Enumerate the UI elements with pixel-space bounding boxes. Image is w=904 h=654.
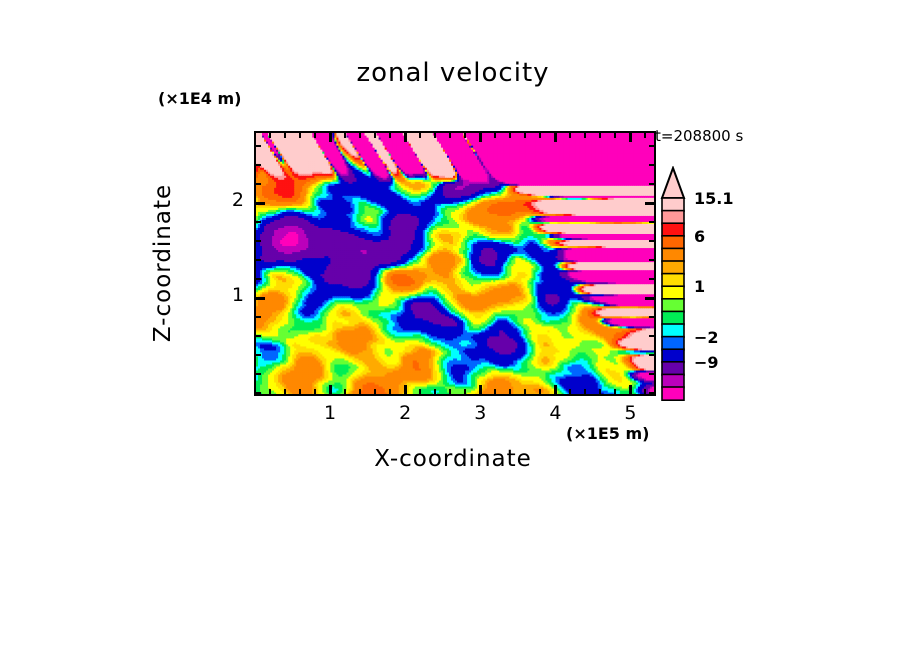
axis-tick: [419, 389, 421, 394]
axis-tick: [449, 133, 451, 138]
axis-tick: [329, 133, 332, 142]
axis-tick: [256, 392, 261, 394]
colorbar-band: [662, 274, 684, 287]
colorbar: [660, 166, 686, 406]
axis-tick: [404, 133, 407, 142]
axis-tick: [344, 389, 346, 394]
axis-tick: [645, 202, 654, 205]
axis-tick: [539, 133, 541, 138]
axis-tick: [299, 133, 301, 138]
axis-tick: [269, 133, 271, 138]
axis-tick: [629, 385, 632, 394]
axis-tick: [649, 392, 654, 394]
axis-tick: [509, 133, 511, 138]
axis-tick: [569, 389, 571, 394]
colorbar-band: [662, 311, 684, 324]
axis-tick: [256, 373, 261, 375]
axis-tick: [329, 385, 332, 394]
y-tick-label: 1: [214, 284, 244, 306]
contour-plot-area: [254, 131, 656, 396]
colorbar-band: [662, 286, 684, 299]
axis-tick: [449, 389, 451, 394]
axis-tick: [649, 259, 654, 261]
axis-tick: [614, 389, 616, 394]
x-tick-label: 5: [615, 402, 645, 424]
axis-tick: [256, 335, 261, 337]
axis-tick: [434, 133, 436, 138]
colorbar-band: [662, 223, 684, 236]
y-tick-label: 2: [214, 189, 244, 211]
colorbar-band: [662, 211, 684, 224]
colorbar-tick-label: 6: [694, 227, 705, 246]
axis-tick: [389, 389, 391, 394]
axis-tick: [494, 389, 496, 394]
axis-tick: [464, 133, 466, 138]
axis-tick: [569, 133, 571, 138]
axis-tick: [554, 385, 557, 394]
axis-tick: [599, 389, 601, 394]
axis-tick: [256, 278, 261, 280]
axis-tick: [374, 133, 376, 138]
y-axis-unit-label: (×1E4 m): [158, 89, 241, 108]
axis-tick: [584, 133, 586, 138]
axis-tick: [649, 373, 654, 375]
axis-tick: [649, 164, 654, 166]
colorbar-band: [662, 387, 684, 400]
axis-tick: [644, 389, 646, 394]
axis-tick: [419, 133, 421, 138]
axis-tick: [494, 133, 496, 138]
x-axis-unit-label: (×1E5 m): [566, 424, 649, 443]
axis-tick: [344, 133, 346, 138]
axis-tick: [299, 389, 301, 394]
axis-tick: [359, 389, 361, 394]
axis-tick: [284, 133, 286, 138]
axis-tick: [256, 183, 261, 185]
axis-tick: [314, 133, 316, 138]
axis-tick: [256, 297, 265, 300]
axis-tick: [649, 316, 654, 318]
colorbar-band: [662, 324, 684, 337]
colorbar-band: [662, 362, 684, 375]
axis-tick: [254, 133, 256, 138]
axis-tick: [645, 297, 654, 300]
axis-tick: [584, 389, 586, 394]
axis-tick: [554, 133, 557, 142]
axis-tick: [256, 316, 261, 318]
x-tick-label: 1: [315, 402, 345, 424]
axis-tick: [649, 354, 654, 356]
x-tick-label: 4: [540, 402, 570, 424]
axis-tick: [649, 221, 654, 223]
axis-tick: [256, 259, 261, 261]
colorbar-band: [662, 236, 684, 249]
axis-tick: [479, 133, 482, 142]
axis-tick: [644, 133, 646, 138]
axis-tick: [539, 389, 541, 394]
time-annotation: t=208800 s: [655, 127, 743, 145]
axis-tick: [479, 385, 482, 394]
axis-tick: [599, 133, 601, 138]
axis-tick: [404, 385, 407, 394]
axis-tick: [359, 133, 361, 138]
colorbar-band: [662, 337, 684, 350]
colorbar-band: [662, 299, 684, 312]
colorbar-arrow-icon: [662, 168, 684, 198]
colorbar-band: [662, 198, 684, 211]
axis-tick: [614, 133, 616, 138]
axis-tick: [629, 133, 632, 142]
axis-tick: [524, 133, 526, 138]
axis-tick: [256, 240, 261, 242]
axis-tick: [314, 389, 316, 394]
contour-field: [256, 133, 654, 394]
colorbar-tick-label: −2: [694, 328, 719, 347]
axis-tick: [434, 389, 436, 394]
axis-tick: [269, 389, 271, 394]
axis-tick: [524, 389, 526, 394]
colorbar-band: [662, 261, 684, 274]
axis-tick: [374, 389, 376, 394]
axis-tick: [649, 240, 654, 242]
axis-tick: [256, 354, 261, 356]
colorbar-tick-label: −9: [694, 353, 719, 372]
colorbar-band: [662, 248, 684, 261]
figure-canvas: zonal velocity (×1E4 m) (×1E5 m) t=20880…: [0, 0, 904, 654]
axis-tick: [256, 221, 261, 223]
axis-tick: [256, 164, 261, 166]
x-axis-title: X-coordinate: [254, 446, 652, 472]
axis-tick: [649, 278, 654, 280]
x-tick-label: 3: [465, 402, 495, 424]
page-title: zonal velocity: [254, 58, 652, 88]
axis-tick: [509, 389, 511, 394]
colorbar-tick-label: 1: [694, 277, 705, 296]
axis-tick: [256, 202, 265, 205]
colorbar-swatches: [660, 166, 686, 402]
axis-tick: [389, 133, 391, 138]
axis-tick: [464, 389, 466, 394]
colorbar-band: [662, 349, 684, 362]
axis-tick: [649, 335, 654, 337]
axis-tick: [256, 145, 261, 147]
colorbar-band: [662, 374, 684, 387]
axis-tick: [284, 389, 286, 394]
y-axis-title: Z-coordinate: [150, 140, 178, 386]
x-tick-label: 2: [390, 402, 420, 424]
axis-tick: [649, 183, 654, 185]
colorbar-tick-label: 15.1: [694, 189, 733, 208]
axis-tick: [649, 145, 654, 147]
